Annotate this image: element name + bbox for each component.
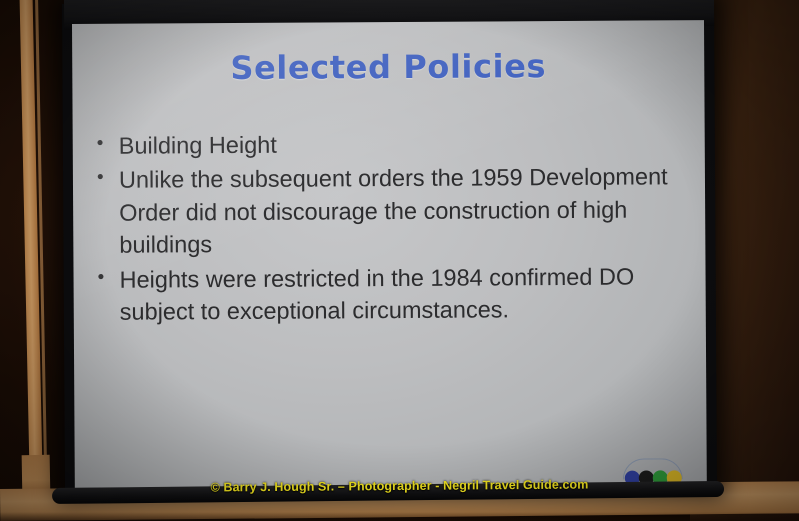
floor-shadow bbox=[0, 512, 799, 521]
slide-title: Selected Policies bbox=[72, 46, 704, 88]
bullet-text: Building Height bbox=[119, 126, 693, 162]
list-item: • Heights were restricted in the 1984 co… bbox=[95, 260, 693, 328]
bullet-marker-icon: • bbox=[95, 164, 119, 193]
list-item: • Unlike the subsequent orders the 1959 … bbox=[95, 161, 694, 262]
bullet-marker-icon: • bbox=[95, 130, 119, 159]
photo-canvas: Selected Policies • Building Height • Un… bbox=[0, 0, 799, 521]
slide-bullet-list: • Building Height • Unlike the subsequen… bbox=[95, 126, 694, 330]
bullet-text: Unlike the subsequent orders the 1959 De… bbox=[119, 161, 694, 262]
list-item: • Building Height bbox=[95, 126, 693, 162]
bullet-marker-icon: • bbox=[95, 263, 119, 292]
presentation-slide: Selected Policies • Building Height • Un… bbox=[72, 20, 707, 488]
bullet-text: Heights were restricted in the 1984 conf… bbox=[119, 260, 693, 328]
